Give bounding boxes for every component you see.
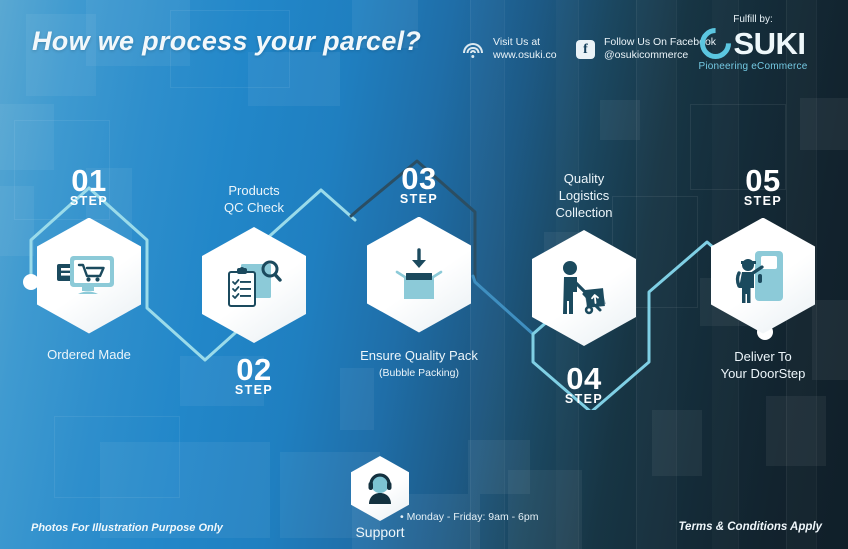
step-02-step-word: STEP: [169, 384, 339, 397]
support-label: Support: [327, 524, 433, 540]
step-05-caption-line2: Your DoorStep: [678, 365, 848, 382]
step-03-caption-block: Ensure Quality Pack (Bubble Packing): [334, 347, 504, 382]
step-05-hexagon: [711, 218, 815, 334]
infographic-poster: How we process your parcel? Visit Us at …: [0, 0, 848, 549]
delivery-at-door-icon: [733, 247, 793, 305]
step-04-number-block: 04 STEP: [499, 364, 669, 406]
visit-us-line2: www.osuki.co: [493, 49, 557, 62]
clipboard-magnifier-icon: [223, 256, 285, 314]
step-02-hexagon: [202, 227, 306, 343]
step-03-number: 03: [334, 164, 504, 194]
poster-header: How we process your parcel? Visit Us at …: [0, 0, 848, 96]
fulfill-by-label: Fulfill by:: [680, 14, 826, 25]
monitor-shopping-cart-icon: [56, 250, 122, 302]
osuki-logo: SUKI: [680, 26, 826, 60]
visit-us-line1: Visit Us at: [493, 36, 540, 48]
step-05[interactable]: 05 STEP Deliver To Your DoorStep: [678, 166, 848, 382]
step-02-number-block: 02 STEP: [169, 355, 339, 397]
osuki-wordmark: SUKI: [733, 28, 805, 59]
step-03[interactable]: 03 STEP Ensure Quality Pack (Bubble Pack…: [334, 164, 504, 382]
step-02-caption: Products: [169, 182, 339, 199]
step-04-caption-line2: Logistics: [499, 187, 669, 204]
page-title: How we process your parcel?: [32, 26, 421, 57]
step-04-caption-line3: Collection: [499, 204, 669, 221]
visit-us-link[interactable]: Visit Us at www.osuki.co: [462, 36, 557, 62]
step-02-caption-block: Products QC Check: [169, 182, 339, 216]
support-block[interactable]: Support: [327, 456, 433, 540]
support-headset-person-icon: [363, 472, 397, 506]
step-05-number-block: 05 STEP: [678, 166, 848, 208]
step-04[interactable]: Quality Logistics Collection 04 STEP: [499, 170, 669, 406]
step-03-hexagon: [367, 217, 471, 333]
step-04-caption-block: Quality Logistics Collection: [499, 170, 669, 221]
step-01-number: 01: [4, 166, 174, 196]
courier-handtruck-icon: [553, 258, 615, 318]
step-04-number: 04: [499, 364, 669, 394]
photos-disclaimer: Photos For Illustration Purpose Only: [31, 522, 223, 534]
step-04-hexagon: [532, 230, 636, 346]
wifi-icon: [462, 40, 484, 58]
step-03-caption: Ensure Quality Pack: [360, 348, 478, 363]
terms-and-conditions: Terms & Conditions Apply: [678, 521, 822, 533]
step-01[interactable]: 01 STEP Ordered Made: [4, 166, 174, 363]
step-03-number-block: 03 STEP: [334, 164, 504, 206]
step-01-number-block: 01 STEP: [4, 166, 174, 208]
fulfill-by-block: Fulfill by: SUKI Pioneering eCommerce: [680, 14, 826, 72]
step-01-hexagon: [37, 218, 141, 334]
step-01-step-word: STEP: [4, 195, 174, 208]
step-03-step-word: STEP: [334, 193, 504, 206]
osuki-o-mark-icon: [694, 21, 738, 65]
visit-us-text: Visit Us at www.osuki.co: [493, 36, 557, 62]
facebook-icon: f: [576, 40, 595, 59]
packing-box-arrow-icon: [388, 248, 450, 302]
step-01-caption: Ordered Made: [4, 346, 174, 363]
step-02-caption-line2: QC Check: [169, 199, 339, 216]
osuki-tagline: Pioneering eCommerce: [680, 61, 826, 72]
step-02[interactable]: Products QC Check 02 STEP: [169, 182, 339, 397]
step-05-caption: Deliver To: [678, 348, 848, 365]
step-04-caption: Quality: [499, 170, 669, 187]
step-02-number: 02: [169, 355, 339, 385]
step-03-subcaption: (Bubble Packing): [334, 365, 504, 382]
step-04-step-word: STEP: [499, 393, 669, 406]
step-05-caption-block: Deliver To Your DoorStep: [678, 348, 848, 382]
support-hours: • Monday - Friday: 9am - 6pm: [400, 511, 538, 523]
step-05-number: 05: [678, 166, 848, 196]
step-05-step-word: STEP: [678, 195, 848, 208]
